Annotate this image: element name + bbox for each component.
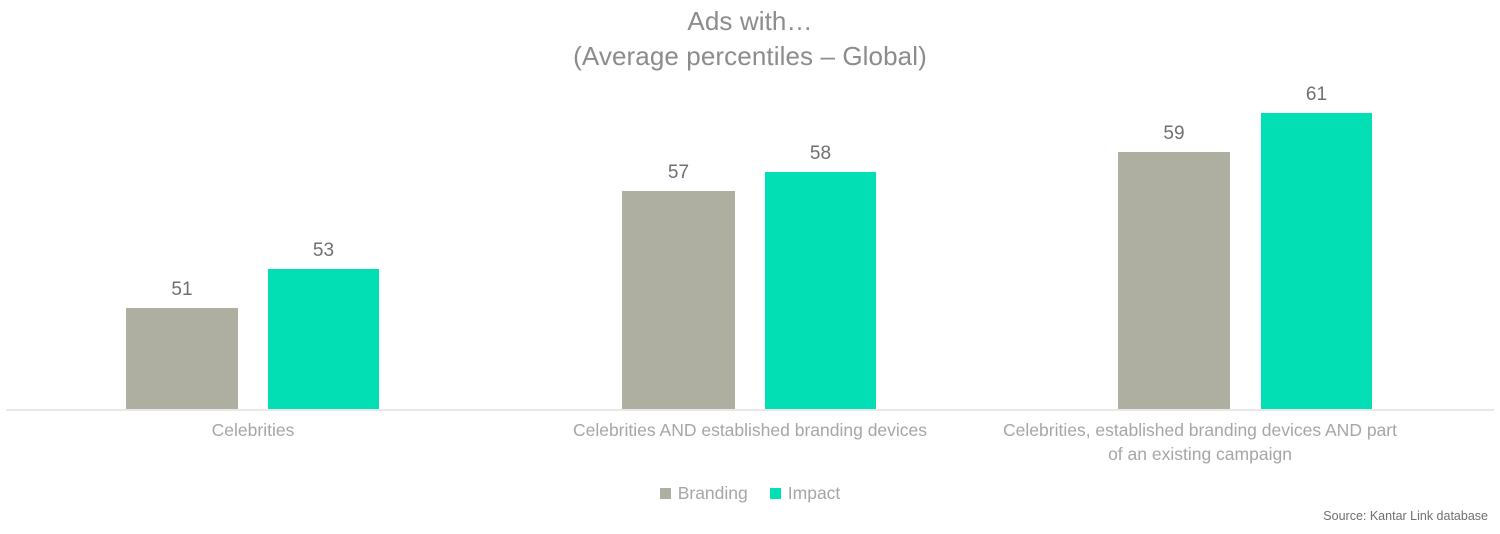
chart-title-line-1: Ads with… <box>0 4 1500 39</box>
legend-item-impact[interactable]: Impact <box>770 482 841 504</box>
chart-title: Ads with… (Average percentiles – Global) <box>0 4 1500 74</box>
source-note: Source: Kantar Link database <box>1323 508 1488 524</box>
bar-value-branding-celebrities-branding-devices-campaign: 59 <box>1118 123 1230 145</box>
category-label-celebrities-branding-devices: Celebrities AND established branding dev… <box>530 418 970 442</box>
bar-branding-celebrities[interactable] <box>126 308 238 410</box>
bar-impact-celebrities[interactable] <box>268 269 379 410</box>
bar-value-impact-celebrities: 53 <box>268 240 379 262</box>
bar-impact-celebrities-branding-devices-campaign[interactable] <box>1261 113 1372 410</box>
bar-impact-celebrities-branding-devices[interactable] <box>765 172 876 410</box>
bar-value-branding-celebrities-branding-devices: 57 <box>622 162 735 184</box>
chart-title-line-2: (Average percentiles – Global) <box>0 39 1500 74</box>
legend-label-branding: Branding <box>678 482 748 504</box>
bar-value-impact-celebrities-branding-devices: 58 <box>765 143 876 165</box>
legend-item-branding[interactable]: Branding <box>660 482 748 504</box>
category-axis-labels: Celebrities Celebrities AND established … <box>0 418 1500 472</box>
bar-chart: Ads with… (Average percentiles – Global)… <box>0 0 1500 534</box>
category-label-celebrities-branding-devices-campaign: Celebrities, established branding device… <box>1000 418 1400 466</box>
legend-swatch-branding-icon <box>660 488 671 499</box>
bar-value-branding-celebrities: 51 <box>126 279 238 301</box>
bar-branding-celebrities-branding-devices-campaign[interactable] <box>1118 152 1230 410</box>
plot-area: 51 53 57 58 59 61 <box>0 75 1500 411</box>
bar-value-impact-celebrities-branding-devices-campaign: 61 <box>1261 84 1372 106</box>
bar-branding-celebrities-branding-devices[interactable] <box>622 191 735 410</box>
chart-legend: Branding Impact <box>0 482 1500 504</box>
legend-label-impact: Impact <box>788 482 841 504</box>
category-axis-line <box>6 409 1494 411</box>
category-label-celebrities: Celebrities <box>120 418 386 442</box>
legend-swatch-impact-icon <box>770 488 781 499</box>
